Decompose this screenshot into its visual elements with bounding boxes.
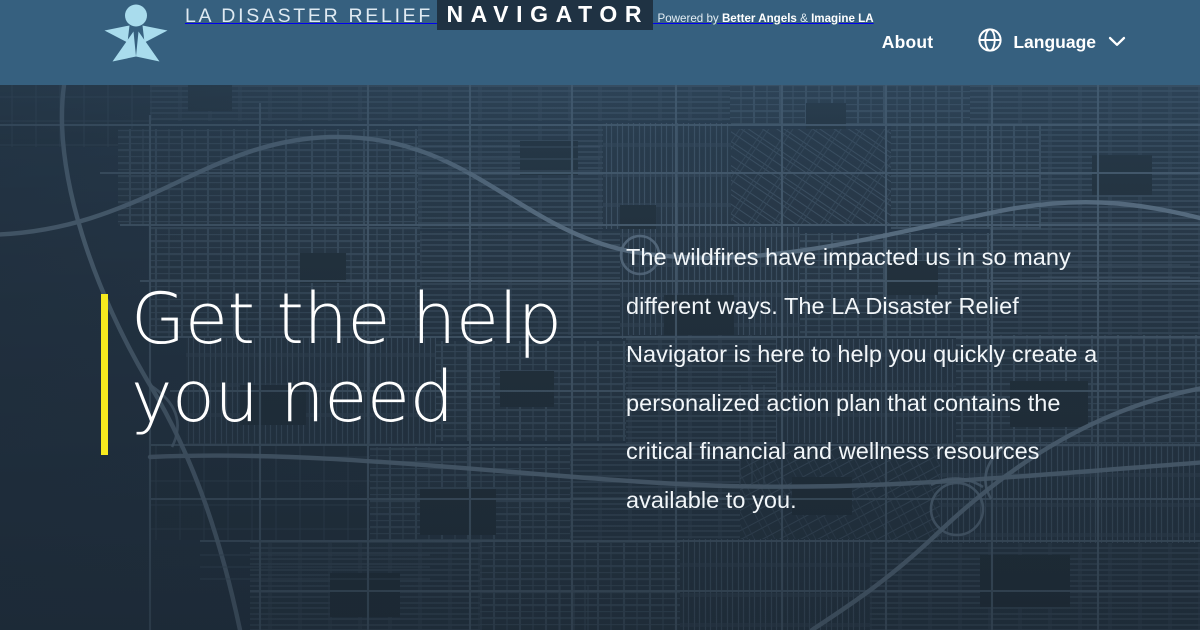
logo-line-navigator: NAVIGATOR — [437, 0, 653, 30]
nav-item-about[interactable]: About — [882, 32, 934, 53]
starburst-person-logo-icon — [100, 0, 172, 71]
primary-navigation: About Language — [882, 0, 1126, 85]
logo-line-la-disaster-relief: LA DISASTER RELIEF — [182, 5, 433, 27]
yellow-accent-bar — [101, 294, 108, 455]
powered-by-prefix: Powered by — [657, 12, 721, 25]
page-root: LA DISASTER RELIEF NAVIGATOR Powered by … — [0, 0, 1200, 630]
hero-description: The wildfires have impacted us in so man… — [626, 233, 1126, 524]
logo-wordmark: LA DISASTER RELIEF NAVIGATOR Powered by … — [182, 0, 876, 30]
hero-headline-block: Get the help you need — [101, 294, 562, 455]
language-label: Language — [1013, 32, 1096, 53]
site-header: LA DISASTER RELIEF NAVIGATOR Powered by … — [0, 0, 1200, 85]
chevron-down-icon — [1108, 34, 1126, 52]
hero-content: Get the help you need The wildfires have… — [0, 85, 1200, 630]
powered-by-join: & — [797, 12, 811, 25]
partner-better-angels: Better Angels — [722, 12, 797, 25]
hero-section: Get the help you need The wildfires have… — [0, 85, 1200, 630]
page-title: Get the help you need — [108, 280, 562, 455]
site-logo[interactable]: LA DISASTER RELIEF NAVIGATOR Powered by … — [100, 0, 876, 71]
logo-powered-by: Powered by Better Angels & Imagine LA — [657, 12, 875, 25]
partner-imagine-la: Imagine LA — [811, 12, 874, 25]
language-selector[interactable]: Language — [977, 27, 1126, 58]
globe-icon — [977, 27, 1003, 58]
